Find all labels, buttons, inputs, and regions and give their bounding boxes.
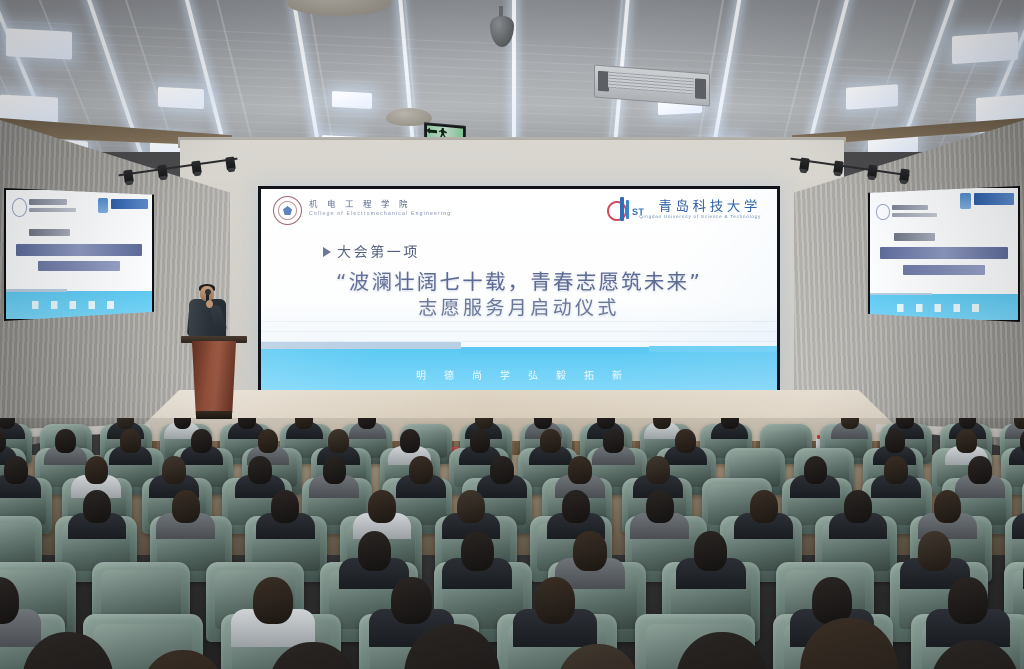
audience-member-head: [55, 429, 75, 453]
audience-member-head: [409, 456, 433, 484]
right-led-screen: [868, 186, 1020, 322]
audience-member-head: [271, 490, 299, 523]
audience-member-head: [328, 429, 348, 453]
slide-title-line-1: “波澜壮阔七十载，青春志愿筑未来”: [261, 265, 777, 295]
audience-seating: [0, 418, 1024, 669]
audience-member-head: [884, 456, 908, 484]
track-spotlight: [899, 168, 910, 182]
audience-member-head: [490, 456, 514, 484]
audience-member-head: [191, 429, 211, 453]
audience-member-head: [934, 490, 962, 523]
audience-member-head: [694, 531, 727, 570]
ceiling: [0, 0, 1024, 152]
audience-member-head: [918, 531, 951, 570]
recessed-panel-light: [158, 87, 204, 109]
audience-member-head: [535, 577, 575, 624]
slide-wave-band: 明德尚学弘毅拓新: [261, 347, 777, 392]
college-name-en: College of Electromechanical Engineering: [309, 211, 451, 217]
audience-member-head: [391, 577, 431, 624]
university-name-cn: 青岛科技大学: [658, 195, 761, 215]
audience-member-head: [400, 429, 420, 453]
recessed-panel-light: [332, 91, 372, 109]
audience-member-head: [248, 456, 272, 484]
audience-member-head: [368, 490, 396, 523]
auditorium-photo: 机 电 工 程 学 院 College of Electromechanical…: [0, 0, 1024, 669]
agenda-item-text: 大会第一项: [337, 242, 420, 262]
audience-member-head: [804, 456, 828, 484]
track-spotlight: [799, 157, 810, 171]
audience-member-head: [470, 429, 490, 453]
audience-member-head: [117, 418, 135, 429]
recessed-panel-light: [952, 32, 1018, 65]
audience-member-head: [841, 418, 859, 429]
audience-member-head: [896, 418, 914, 429]
audience-member-head: [534, 418, 552, 429]
audience-member-head: [174, 418, 192, 429]
recessed-panel-light: [846, 84, 898, 110]
audience-member-head: [258, 429, 278, 453]
audience-member-head: [573, 531, 606, 570]
track-spotlight: [123, 169, 134, 183]
college-name-cn: 机 电 工 程 学 院: [309, 198, 411, 210]
audience-member-head: [597, 418, 615, 429]
audience-member-head: [568, 456, 592, 484]
university-name-en: Qingdao University of Science & Technolo…: [639, 214, 761, 219]
slide-title-line-2: 志愿服务月启动仪式: [261, 293, 777, 320]
recessed-panel-light: [6, 28, 72, 59]
audience-member-head: [540, 429, 560, 453]
audience-member-head: [358, 531, 391, 570]
audience-member-head: [562, 490, 590, 523]
track-spotlight: [191, 160, 202, 174]
audience-member-head: [358, 418, 376, 429]
track-spotlight: [833, 160, 844, 174]
audience-member-head: [162, 456, 186, 484]
audience-member-head: [1014, 418, 1024, 429]
audience-member-head: [120, 429, 140, 453]
track-spotlight: [157, 164, 168, 178]
linear-strip-light: [287, 0, 329, 152]
lectern-shading: [190, 341, 238, 413]
audience-member-head: [959, 418, 977, 429]
audience-member-head: [457, 490, 485, 523]
presenter-hand: [206, 300, 213, 308]
agenda-bullet-row: 大会第一项: [323, 242, 420, 262]
audience-member-head: [603, 429, 623, 453]
audience-member-head: [750, 490, 778, 523]
audience-member-head: [253, 577, 293, 624]
audience-member-head: [956, 429, 976, 453]
audience-member-head: [948, 577, 988, 624]
main-led-screen: 机 电 工 程 学 院 College of Electromechanical…: [258, 186, 780, 395]
audience-member-head: [83, 490, 111, 523]
track-spotlight: [867, 164, 878, 178]
audience-member-head: [885, 429, 905, 453]
arrow-bullet-icon: [323, 247, 331, 257]
left-led-screen: [4, 188, 154, 321]
university-motto: 明德尚学弘毅拓新: [261, 367, 777, 382]
audience-member-head: [968, 456, 992, 484]
audience-member-head: [238, 418, 256, 429]
audience-member-head: [172, 490, 200, 523]
audience-member-head: [461, 531, 494, 570]
audience-member-head: [675, 429, 695, 453]
ceiling-dome-vent-left: [287, 0, 391, 16]
audience-member-head: [646, 456, 670, 484]
college-emblem-icon: [273, 196, 302, 225]
audience-member-head: [646, 490, 674, 523]
audience-member-head: [721, 418, 739, 429]
audience-member-head: [653, 418, 671, 429]
audience-member-head: [4, 456, 28, 484]
audience-member-head: [475, 418, 493, 429]
audience-member-head: [295, 418, 313, 429]
audience-member-head: [323, 456, 347, 484]
pendant-speaker: [490, 16, 514, 47]
audience-member-head: [844, 490, 872, 523]
audience-member-head: [85, 456, 109, 484]
slide-header: 机 电 工 程 学 院 College of Electromechanical…: [273, 194, 767, 226]
track-spotlight: [225, 156, 236, 170]
